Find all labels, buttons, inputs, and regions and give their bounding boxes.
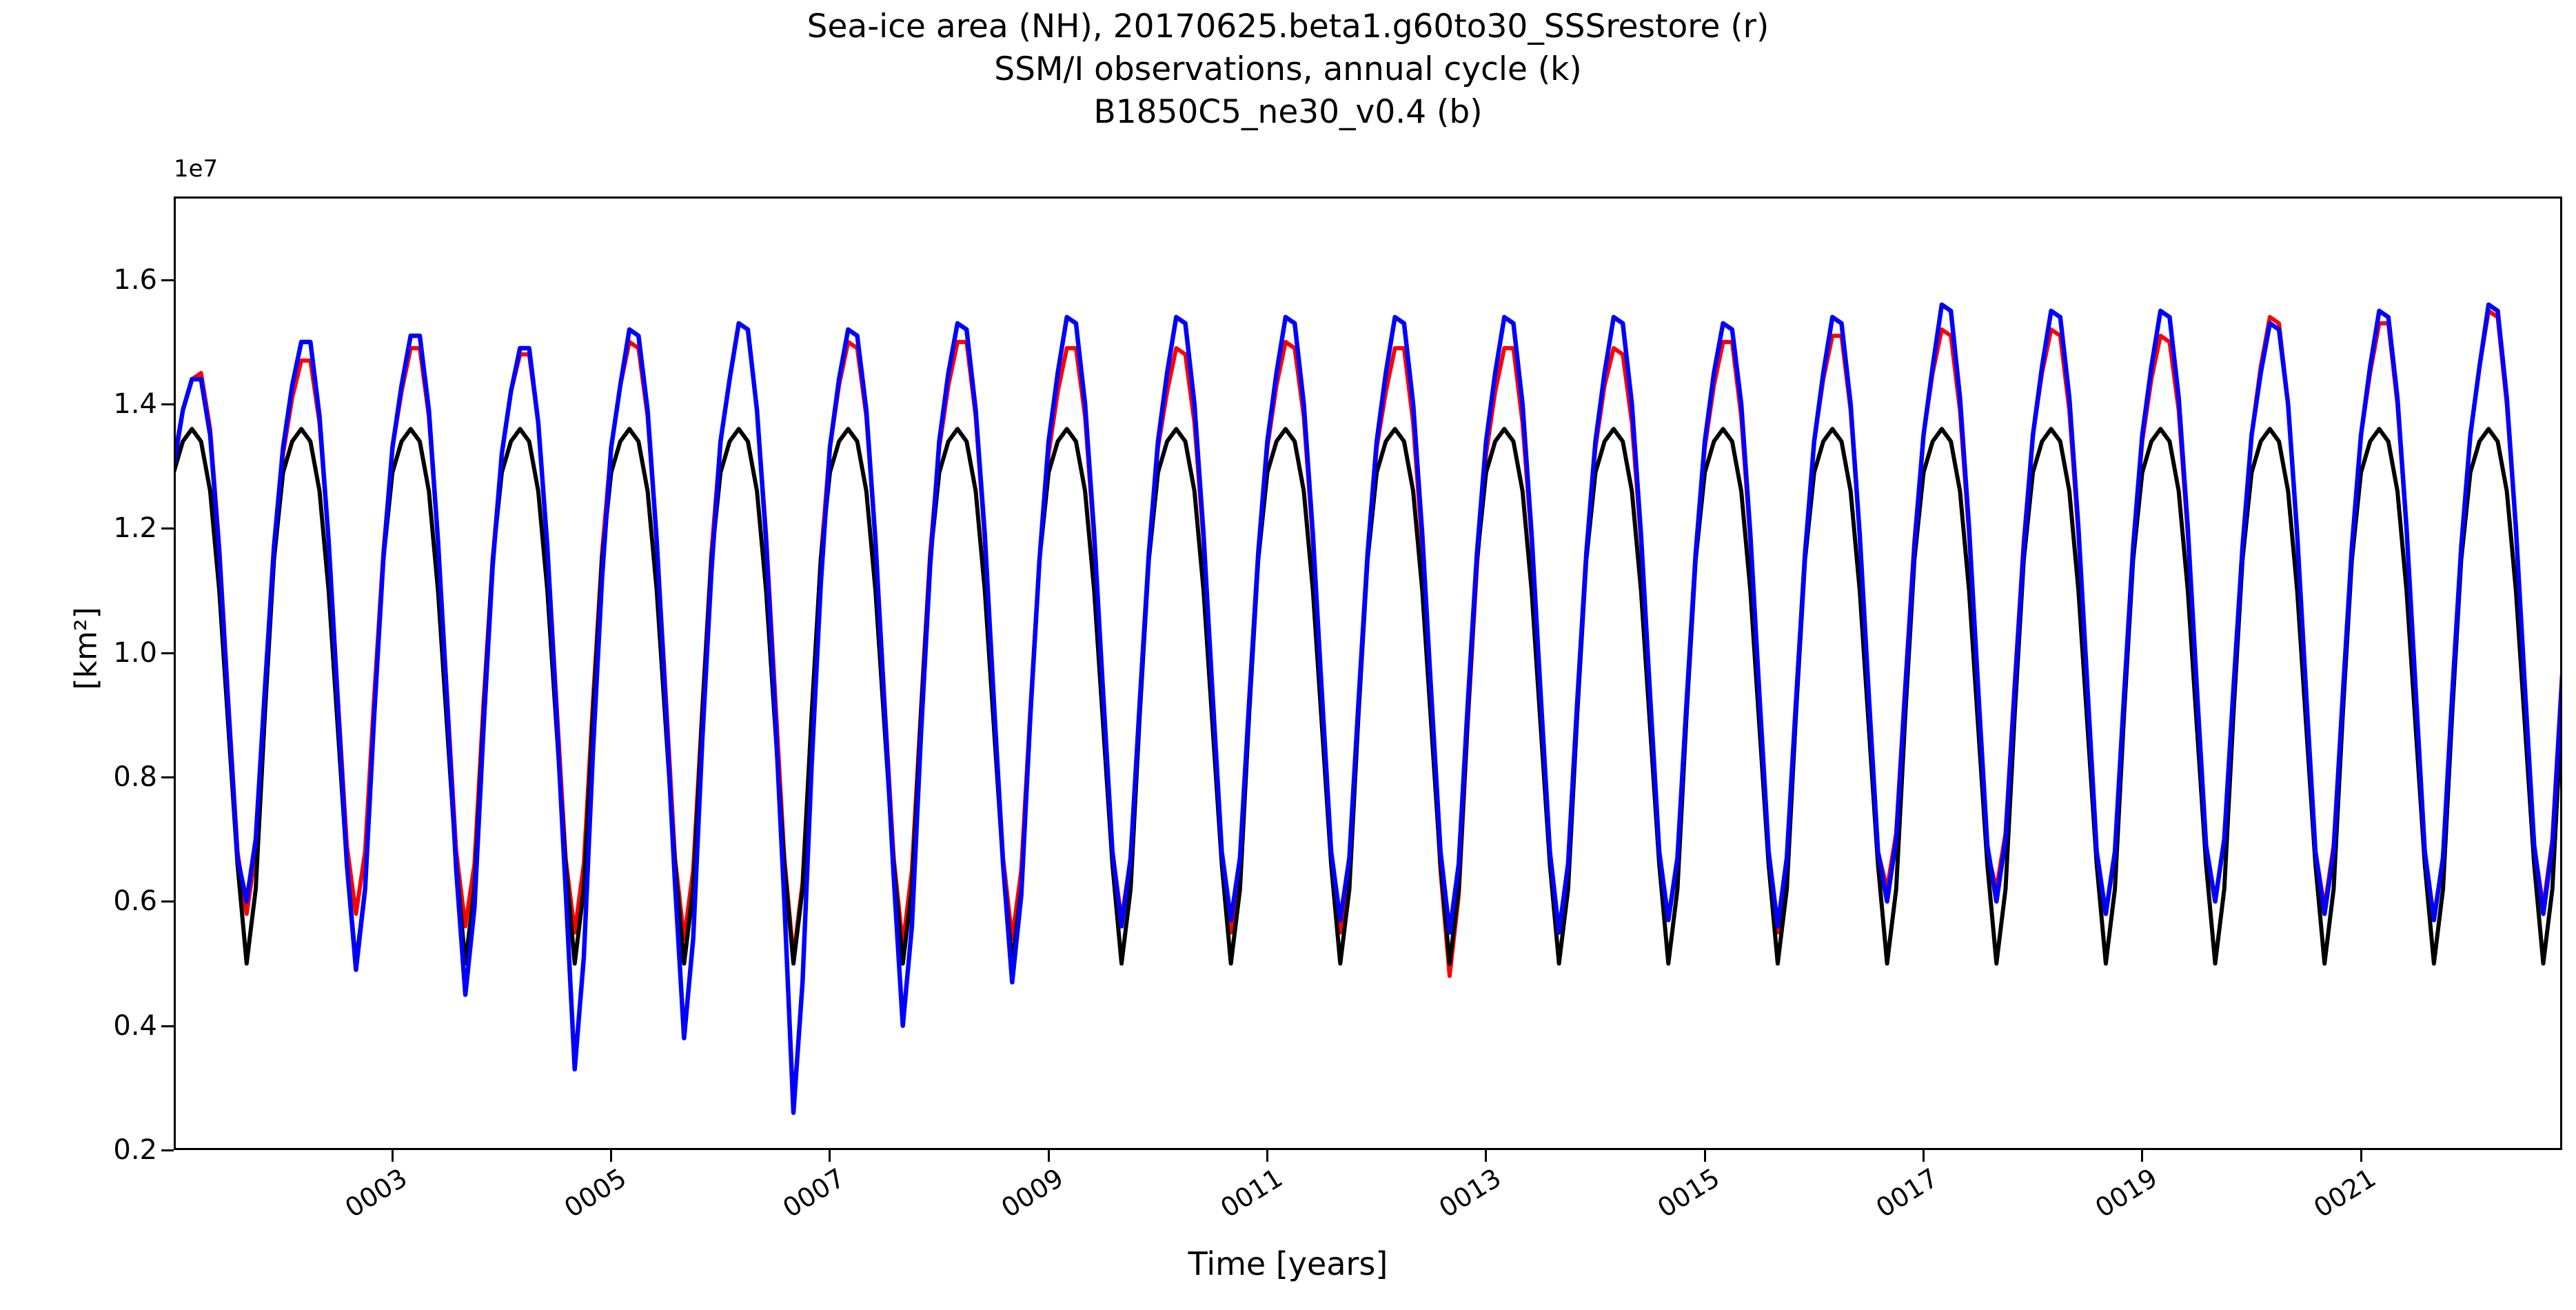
x-tick-label: 0021 [2301,1162,2382,1229]
x-tick-label: 0009 [988,1162,1069,1229]
chart-title: Sea-ice area (NH), 20170625.beta1.g60to3… [0,6,2576,134]
y-tick-label: 0.6 [113,885,157,917]
title-line-3: B1850C5_ne30_v0.4 (b) [0,91,2576,134]
y-tick-mark [161,403,174,405]
series-canvas [176,199,2560,1148]
x-tick-label: 0003 [332,1162,413,1229]
y-axis-offset-text: 1e7 [174,155,218,183]
x-tick-mark [1485,1150,1487,1162]
y-tick-mark [161,1025,174,1027]
y-tick-label: 0.4 [113,1010,157,1042]
x-tick-label-group: 0003000500070009001100130015001700190021 [0,1162,2576,1238]
y-tick-label: 0.8 [113,761,157,793]
x-tick-label: 0005 [551,1162,631,1229]
y-tick-mark [161,527,174,530]
x-tick-mark [610,1150,612,1162]
series-line-k [176,429,2560,963]
y-tick-label-group: 0.20.40.60.81.01.21.41.6 [0,0,157,1310]
x-tick-label: 0011 [1207,1162,1288,1229]
title-line-1: Sea-ice area (NH), 20170625.beta1.g60to3… [0,6,2576,48]
y-tick-mark [161,776,174,778]
x-axis-title: Time [years] [0,1245,2576,1282]
series-line-b [176,305,2560,1113]
x-tick-label: 0007 [770,1162,851,1229]
y-tick-mark-group [161,0,175,1310]
series-line-r [176,311,2560,976]
figure-canvas: Sea-ice area (NH), 20170625.beta1.g60to3… [0,0,2576,1310]
x-tick-label: 0019 [2082,1162,2162,1229]
y-tick-mark [161,652,174,654]
x-tick-mark [1266,1150,1268,1162]
x-tick-label: 0015 [1645,1162,1725,1229]
x-tick-mark [1704,1150,1706,1162]
x-tick-mark [392,1150,394,1162]
data-series-group [176,305,2560,1113]
x-tick-mark [829,1150,831,1162]
title-line-2: SSM/I observations, annual cycle (k) [0,48,2576,91]
x-tick-mark [1923,1150,1925,1162]
x-tick-label: 0013 [1426,1162,1507,1229]
plot-area [174,196,2562,1150]
y-tick-mark [161,279,174,281]
y-tick-label: 1.6 [113,264,157,296]
y-tick-mark [161,900,174,903]
y-tick-label: 1.0 [113,637,157,669]
x-tick-mark [1048,1150,1050,1162]
x-tick-mark [2360,1150,2362,1162]
y-tick-label: 1.2 [113,512,157,544]
x-tick-mark-group [0,1150,2576,1164]
x-tick-label: 0017 [1863,1162,1944,1229]
x-tick-mark [2141,1150,2143,1162]
y-tick-label: 1.4 [113,388,157,420]
